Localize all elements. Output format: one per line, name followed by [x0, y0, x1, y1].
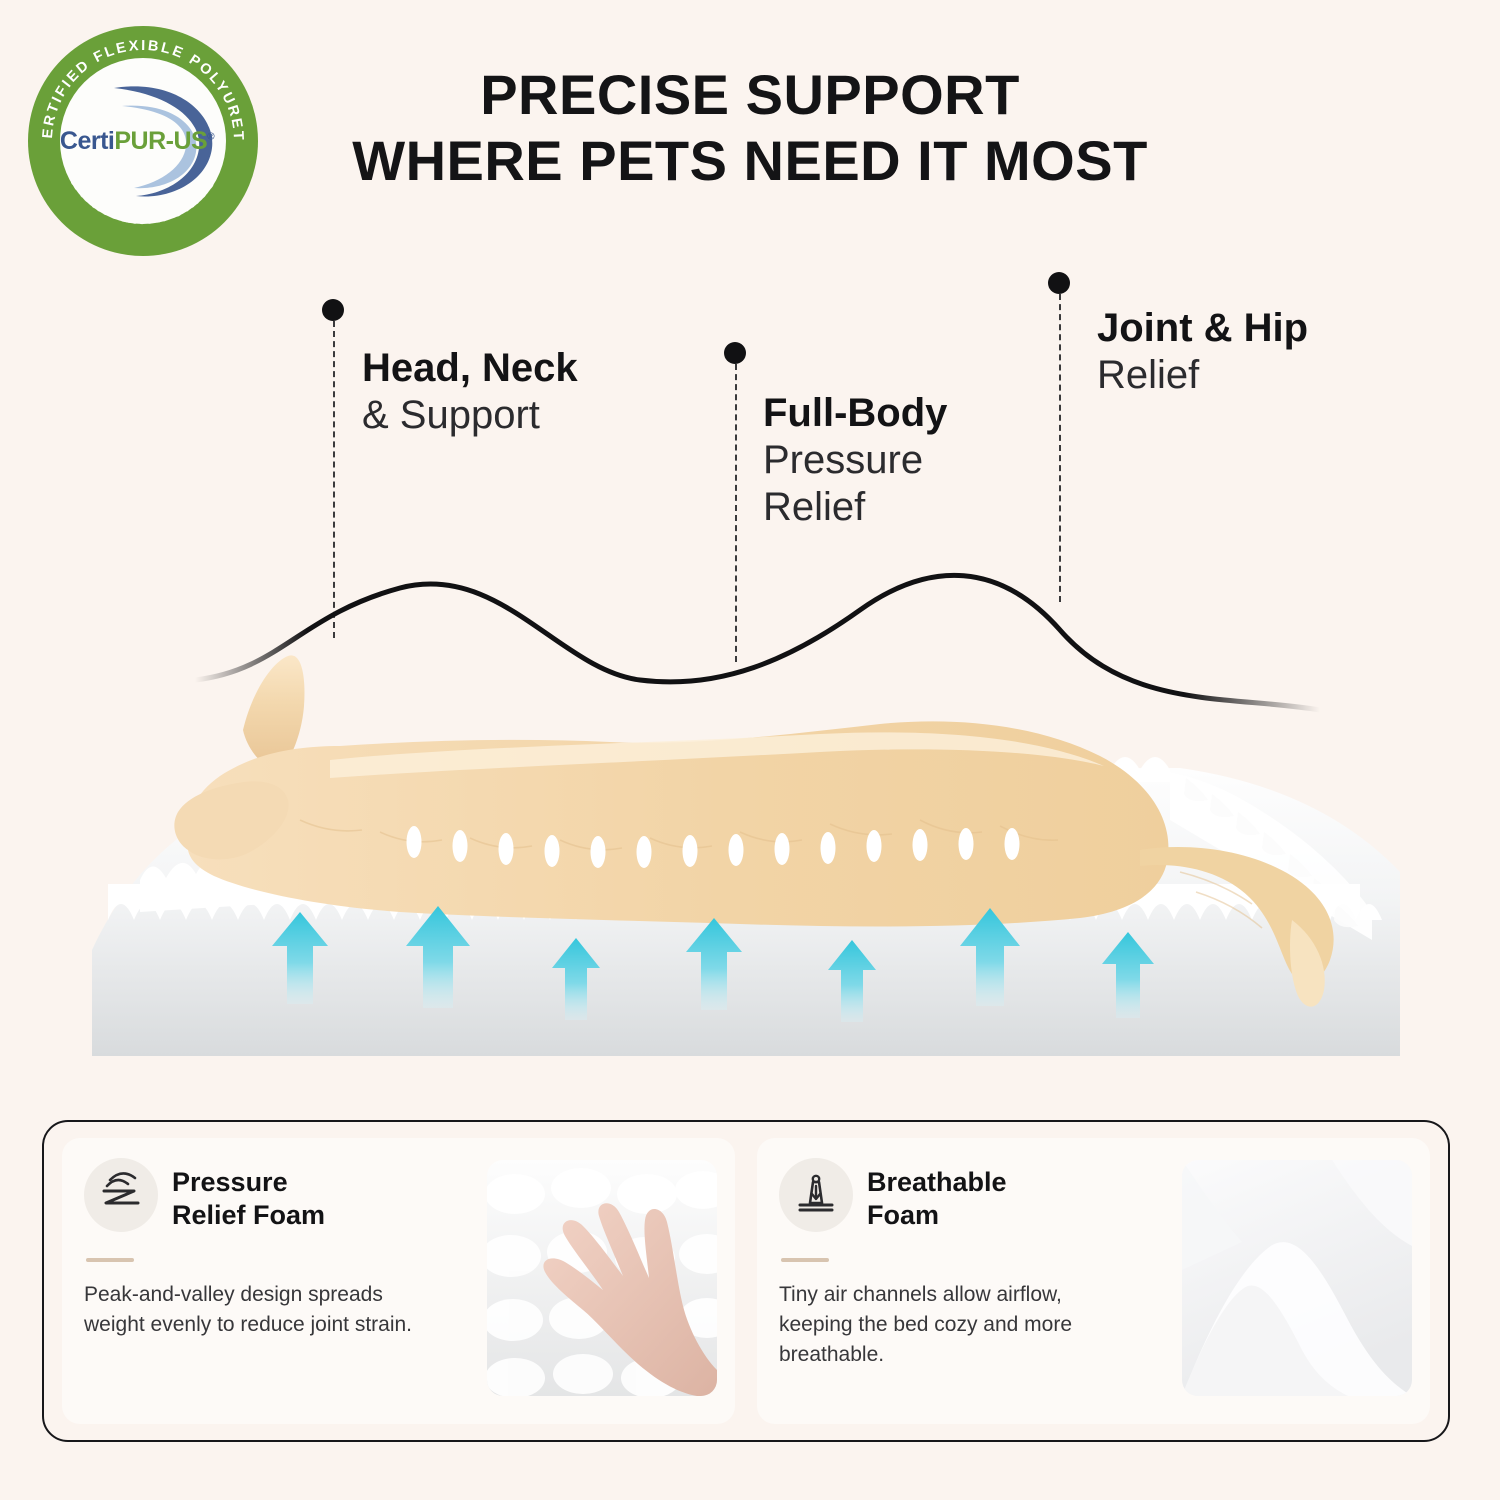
product-scene	[0, 520, 1500, 1100]
feature-body-text: Peak-and-valley design spreads weight ev…	[84, 1280, 414, 1340]
page-title: PRECISE SUPPORT WHERE PETS NEED IT MOST	[0, 62, 1500, 193]
scene-illustration	[0, 520, 1500, 1100]
feature-text-column: Pressure Relief Foam Peak-and-valley des…	[84, 1160, 414, 1404]
hand-pressing-egg-crate-foam-photo	[487, 1160, 717, 1396]
feature-divider-rule	[781, 1258, 829, 1262]
headline-line-1: PRECISE SUPPORT	[480, 63, 1020, 126]
callout-full-body: Full-Body Pressure Relief	[763, 390, 947, 532]
feature-divider-rule	[86, 1258, 134, 1262]
feature-title: Pressure Relief Foam	[172, 1160, 325, 1232]
badge-wordmark: CertiPUR-US®	[60, 127, 214, 156]
feature-card-pressure-relief-foam: Pressure Relief Foam Peak-and-valley des…	[62, 1138, 735, 1424]
callout-joint-hip-title: Joint & Hip	[1097, 305, 1308, 352]
callout-head-neck-title: Head, Neck	[362, 345, 578, 392]
callout-full-body-title: Full-Body	[763, 390, 947, 437]
badge-registered-mark: ®	[207, 131, 214, 142]
downward-airflow-weight-glyph	[792, 1171, 840, 1219]
headline-line-2: WHERE PETS NEED IT MOST	[0, 128, 1500, 194]
callout-dot-head-neck	[322, 299, 344, 321]
infographic-canvas: CONTAINS CERTIFIED FLEXIBLE POLYURETHANE…	[0, 0, 1500, 1500]
feature-body-text: Tiny air channels allow airflow, keeping…	[779, 1280, 1109, 1369]
pressure-wave-zigzag-glyph	[97, 1171, 145, 1219]
pressure-wave-zigzag-icon	[84, 1158, 158, 1232]
feature-title-line-2: Foam	[867, 1199, 1007, 1232]
badge-wordmark-purus: PUR-US	[114, 127, 207, 155]
downward-airflow-weight-icon	[779, 1158, 853, 1232]
feature-card-breathable-foam: Breathable Foam Tiny air channels allow …	[757, 1138, 1430, 1424]
callout-joint-hip-subtitle: Relief	[1097, 352, 1308, 399]
feature-title-line-1: Pressure	[172, 1166, 325, 1199]
callout-full-body-subtitle-1: Pressure	[763, 437, 947, 484]
pressure-contour-curve	[195, 575, 1320, 710]
callout-dot-full-body	[724, 342, 746, 364]
white-foam-peaks-closeup-photo	[1182, 1160, 1412, 1396]
feature-cards-frame: Pressure Relief Foam Peak-and-valley des…	[42, 1120, 1450, 1442]
feature-header: Breathable Foam	[779, 1160, 1109, 1232]
badge-wordmark-certi: Certi	[60, 127, 114, 155]
feature-title-line-1: Breathable	[867, 1166, 1007, 1199]
feature-text-column: Breathable Foam Tiny air channels allow …	[779, 1160, 1109, 1404]
foam-bed	[92, 655, 1400, 1056]
callout-dot-joint-hip	[1048, 272, 1070, 294]
callout-joint-hip: Joint & Hip Relief	[1097, 305, 1308, 399]
feature-header: Pressure Relief Foam	[84, 1160, 414, 1232]
callout-head-neck: Head, Neck & Support	[362, 345, 578, 439]
feature-title: Breathable Foam	[867, 1160, 1007, 1232]
feature-title-line-2: Relief Foam	[172, 1199, 325, 1232]
callout-head-neck-subtitle: & Support	[362, 392, 578, 439]
